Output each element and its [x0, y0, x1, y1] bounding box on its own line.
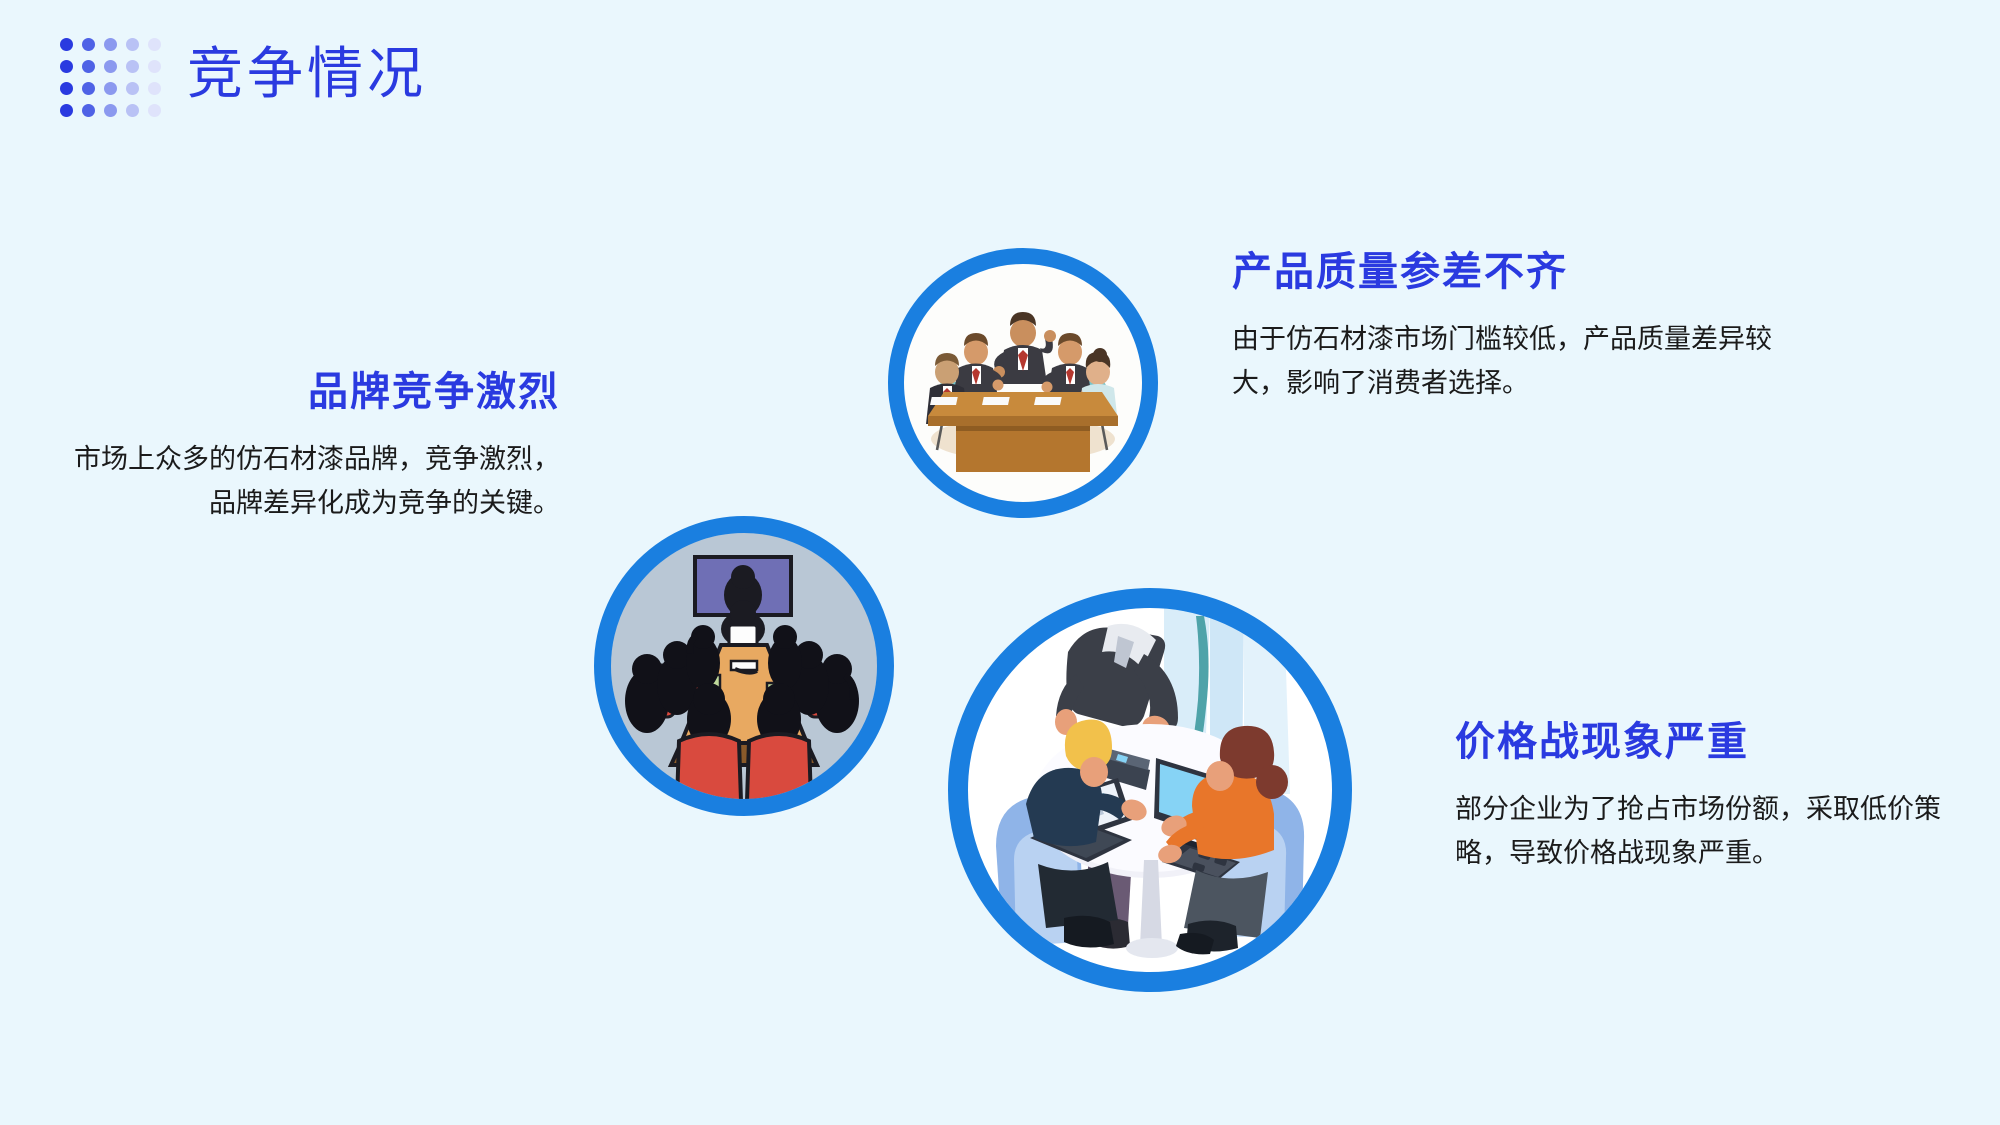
- slide-title-block: 竞争情况: [60, 32, 427, 117]
- circle-ring-brand: [594, 516, 894, 816]
- text-group-price-war: 价格战现象严重 部分企业为了抢占市场份额，采取低价策略，导致价格战现象严重。: [1455, 718, 1975, 875]
- heading-price-war: 价格战现象严重: [1455, 718, 1975, 766]
- text-group-brand-competition: 品牌竞争激烈 市场上众多的仿石材漆品牌，竞争激烈，品牌差异化成为竞争的关键。: [70, 368, 560, 525]
- circle-ring-price: [948, 588, 1352, 992]
- body-brand-competition: 市场上众多的仿石材漆品牌，竞争激烈，品牌差异化成为竞争的关键。: [70, 438, 560, 525]
- body-product-quality: 由于仿石材漆市场门槛较低，产品质量差异较大，影响了消费者选择。: [1232, 318, 1792, 405]
- dot-grid-icon: [60, 38, 161, 117]
- circle-ring-quality: [888, 248, 1158, 518]
- page-title: 竞争情况: [187, 47, 427, 103]
- body-price-war: 部分企业为了抢占市场份额，采取低价策略，导致价格战现象严重。: [1455, 788, 1975, 875]
- slide-canvas: 竞争情况: [0, 0, 2000, 1125]
- text-group-product-quality: 产品质量参差不齐 由于仿石材漆市场门槛较低，产品质量差异较大，影响了消费者选择。: [1232, 248, 1792, 405]
- heading-brand-competition: 品牌竞争激烈: [70, 368, 560, 416]
- heading-product-quality: 产品质量参差不齐: [1232, 248, 1792, 296]
